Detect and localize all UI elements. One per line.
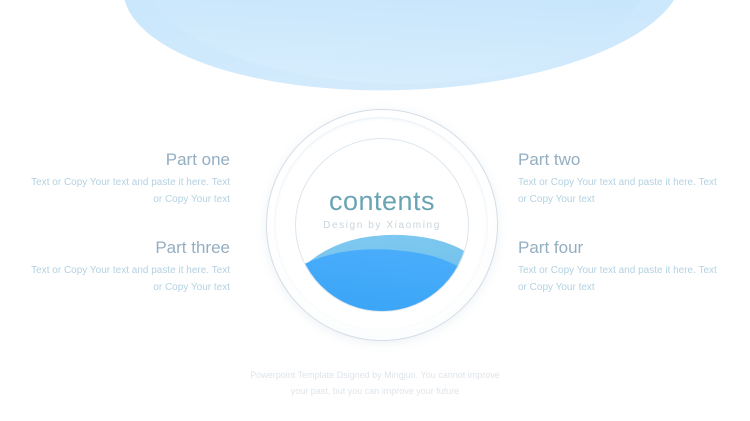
part-one-body: Text or Copy Your text and paste it here… bbox=[30, 175, 230, 208]
emblem-title: contents bbox=[266, 187, 498, 215]
part-one-title: Part one bbox=[30, 150, 230, 170]
part-four-title: Part four bbox=[518, 238, 718, 258]
presentation-slide: contents Design by Xiaoming Part one Tex… bbox=[0, 0, 750, 421]
footer-line-2: your past, but you can improve your futu… bbox=[0, 383, 750, 399]
slide-footer: Powerpoint Template Dsigned by Mingjun. … bbox=[0, 367, 750, 399]
part-two-title: Part two bbox=[518, 150, 718, 170]
part-three-title: Part three bbox=[30, 238, 230, 258]
part-block-three[interactable]: Part three Text or Copy Your text and pa… bbox=[30, 238, 230, 296]
emblem-subtitle: Design by Xiaoming bbox=[266, 220, 498, 231]
top-curved-blob-secondary bbox=[140, 0, 659, 97]
emblem-text-group: contents Design by Xiaoming bbox=[266, 187, 498, 231]
part-three-body: Text or Copy Your text and paste it here… bbox=[30, 263, 230, 296]
part-block-two[interactable]: Part two Text or Copy Your text and past… bbox=[518, 150, 718, 208]
part-block-one[interactable]: Part one Text or Copy Your text and past… bbox=[30, 150, 230, 208]
contents-emblem: contents Design by Xiaoming bbox=[266, 109, 498, 341]
part-four-body: Text or Copy Your text and paste it here… bbox=[518, 263, 718, 296]
part-two-body: Text or Copy Your text and paste it here… bbox=[518, 175, 718, 208]
footer-line-1: Powerpoint Template Dsigned by Mingjun. … bbox=[0, 367, 750, 383]
part-block-four[interactable]: Part four Text or Copy Your text and pas… bbox=[518, 238, 718, 296]
